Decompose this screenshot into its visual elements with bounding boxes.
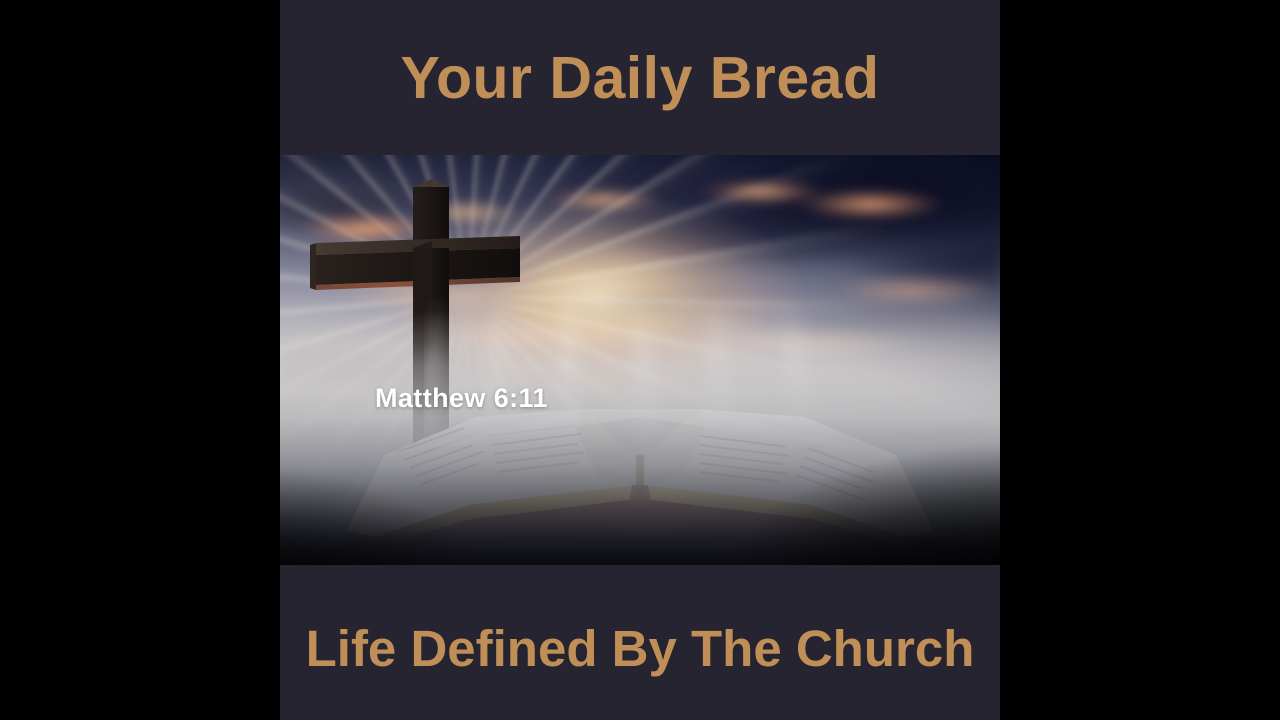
page-title: Your Daily Bread	[400, 49, 879, 108]
pillarbox-right	[1000, 0, 1280, 720]
video-frame: Your Daily Bread	[0, 0, 1280, 720]
hero-image: Matthew 6:11	[280, 155, 1000, 565]
scripture-reference: Matthew 6:11	[375, 383, 548, 414]
content-panel: Your Daily Bread	[280, 0, 1000, 720]
subtitle-band: Life Defined By The Church	[280, 565, 1000, 720]
vignette-overlay	[280, 155, 1000, 565]
pillarbox-left	[0, 0, 280, 720]
sermon-subtitle: Life Defined By The Church	[306, 623, 975, 674]
title-band: Your Daily Bread	[280, 0, 1000, 155]
